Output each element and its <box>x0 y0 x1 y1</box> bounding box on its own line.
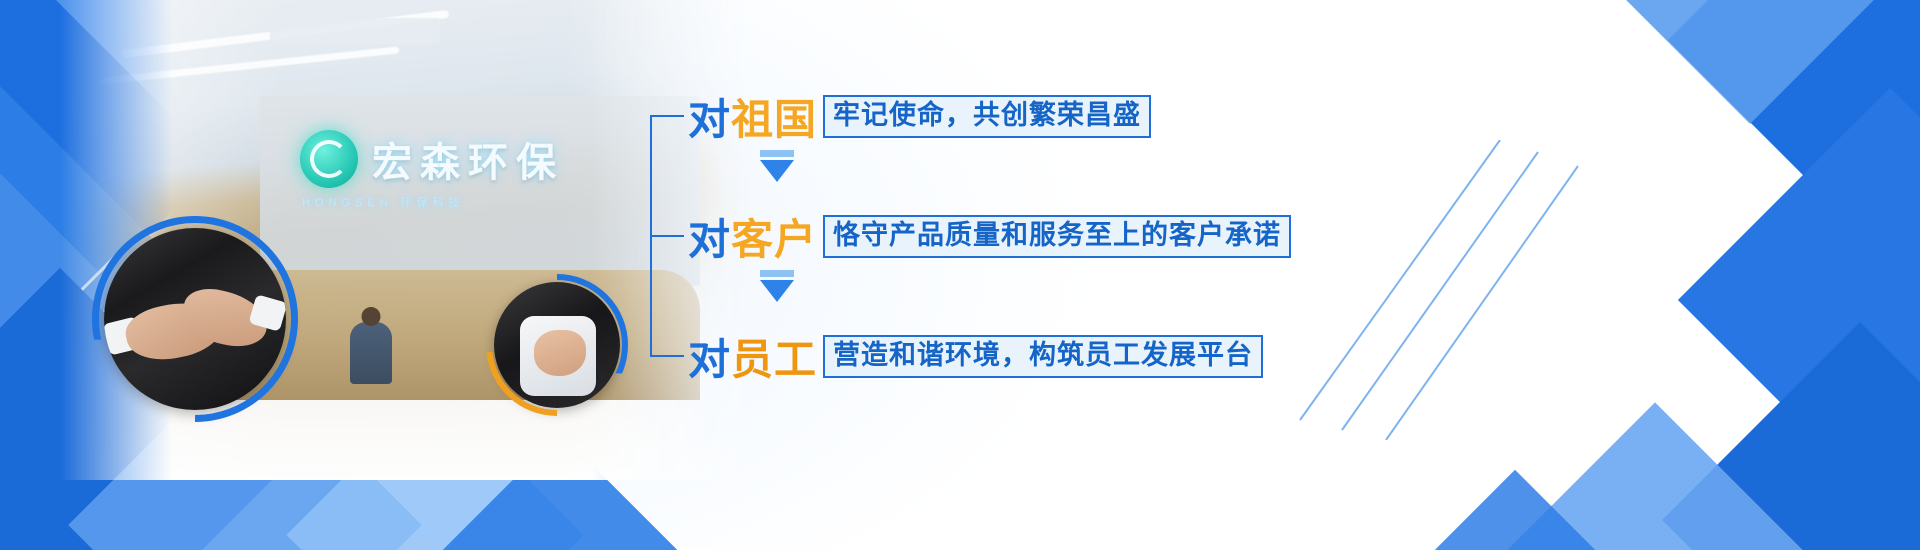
row-tick-icon <box>650 115 684 117</box>
company-values-banner: 宏森环保 HONGSEN 环保科技 对祖国 牢记使命，共创繁荣昌盛 <box>0 0 1920 550</box>
lead-prefix: 对 <box>688 96 731 143</box>
value-tag-customer: 恪守产品质量和服务至上的客户承诺 <box>823 215 1291 258</box>
wall-logo-group: 宏森环保 <box>300 130 564 188</box>
down-arrow-icon-2 <box>760 280 794 302</box>
value-lead-employee: 对员工 <box>688 326 817 387</box>
ceiling-vent <box>270 18 440 44</box>
value-row-customer: 对客户 恪守产品质量和服务至上的客户承诺 <box>650 209 1291 263</box>
wall-logo-subtext: HONGSEN 环保科技 <box>302 194 465 210</box>
value-lead-customer: 对客户 <box>688 206 817 267</box>
row-tick-icon <box>650 235 684 237</box>
down-arrow-icon-1 <box>760 160 794 182</box>
lead-subject: 祖国 <box>731 96 817 143</box>
lead-prefix: 对 <box>688 336 731 383</box>
value-row-country: 对祖国 牢记使命，共创繁荣昌盛 <box>650 89 1151 143</box>
hongsen-circular-logo-icon <box>300 130 358 188</box>
arrow-cap-1 <box>760 150 794 157</box>
value-tag-employee: 营造和谐环境，构筑员工发展平台 <box>823 335 1263 378</box>
receptionist-figure <box>350 322 392 384</box>
value-row-employee: 对员工 营造和谐环境，构筑员工发展平台 <box>650 329 1263 383</box>
wall-logo-text: 宏森环保 <box>372 130 564 188</box>
value-tag-country: 牢记使命，共创繁荣昌盛 <box>823 95 1151 138</box>
arrow-cap-2 <box>760 270 794 277</box>
lead-prefix: 对 <box>688 216 731 263</box>
lead-subject: 客户 <box>731 216 817 263</box>
row-tick-icon <box>650 355 684 357</box>
reception-back-wall <box>260 96 700 286</box>
slogan-group: 对祖国 牢记使命，共创繁荣昌盛 对客户 恪守产品质量和服务至上的客户承诺 对员工… <box>650 78 1410 388</box>
lead-subject: 员工 <box>731 336 817 383</box>
value-lead-country: 对祖国 <box>688 86 817 147</box>
